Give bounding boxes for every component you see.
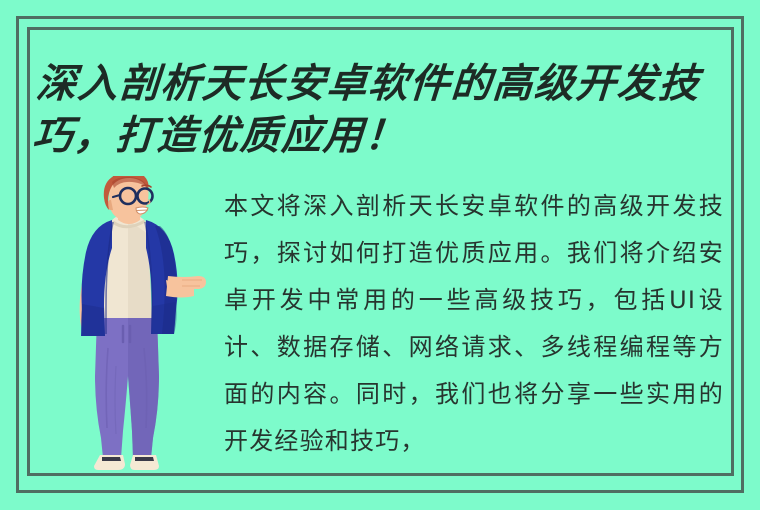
pants-group — [95, 317, 159, 458]
poster-canvas: 深入剖析天长安卓软件的高级开发技巧，打造优质应用！ — [0, 0, 760, 510]
right-arm-hand-group — [166, 276, 206, 298]
head-group — [104, 176, 153, 221]
poster-title: 深入剖析天长安卓软件的高级开发技巧，打造优质应用！ — [38, 58, 728, 162]
poster-body: 本文将深入剖析天长安卓软件的高级开发技巧，探讨如何打造优质应用。我们将介绍安卓开… — [224, 183, 724, 473]
illustration-figure — [56, 176, 208, 476]
poster-body-text: 本文将深入剖析天长安卓软件的高级开发技巧，探讨如何打造优质应用。我们将介绍安卓开… — [224, 183, 724, 465]
poster-title-text: 深入剖析天长安卓软件的高级开发技巧，打造优质应用！ — [31, 58, 728, 162]
shoes-group — [94, 455, 159, 470]
